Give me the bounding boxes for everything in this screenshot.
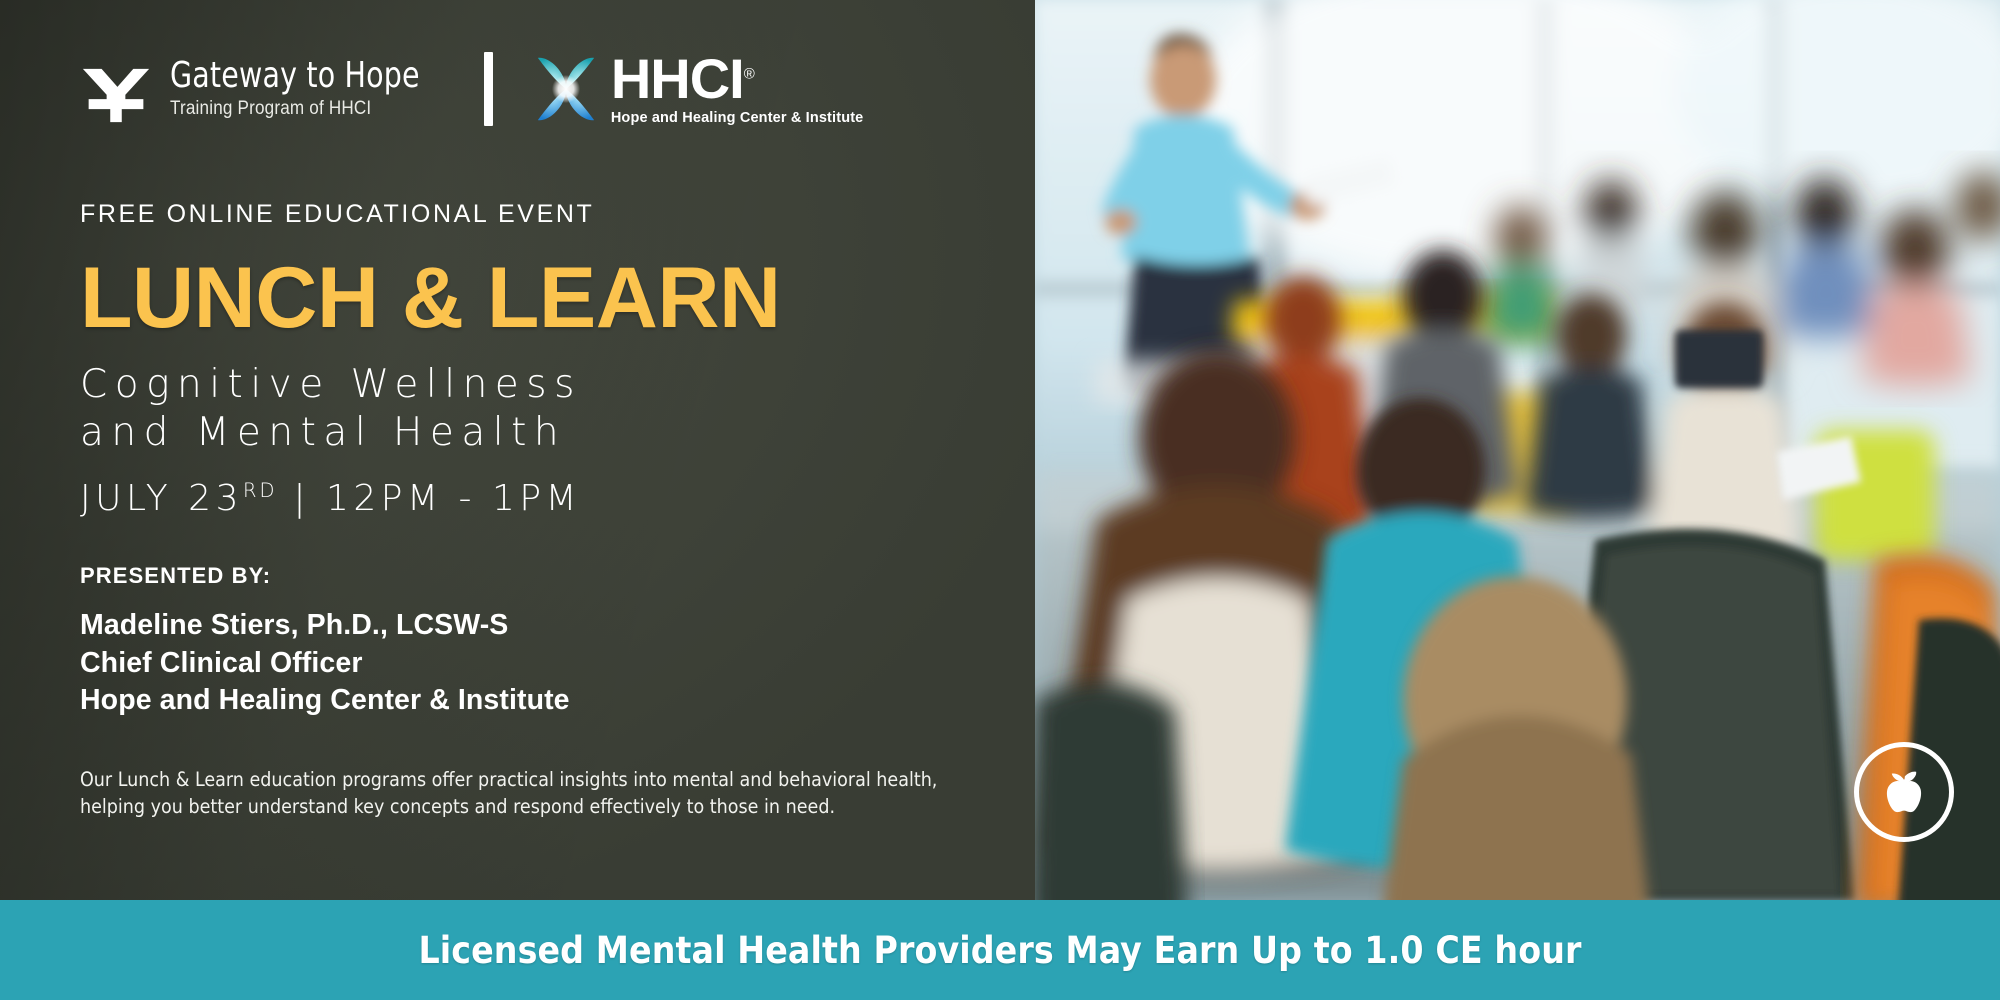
gateway-subtitle: Training Program of HHCI	[170, 98, 425, 121]
presented-by-label: PRESENTED BY:	[80, 563, 980, 589]
logo-divider	[484, 52, 493, 126]
event-kicker: FREE ONLINE EDUCATIONAL EVENT	[80, 200, 980, 229]
event-details: FREE ONLINE EDUCATIONAL EVENT LUNCH & LE…	[80, 200, 980, 820]
event-date-ordinal: RD	[243, 479, 277, 502]
event-subhead-line1: Cognitive Wellness	[80, 361, 980, 409]
hhci-title-text: HHCI	[611, 47, 744, 110]
hhci-subtitle: Hope and Healing Center & Institute	[611, 110, 864, 126]
event-time-range: | 12PM - 1PM	[277, 478, 581, 519]
event-headline: LUNCH & LEARN	[80, 253, 980, 343]
hhci-logo-block: HHCI® Hope and Healing Center & Institut…	[529, 52, 864, 126]
event-date-main: JULY 23	[80, 478, 243, 519]
event-subhead: Cognitive Wellness and Mental Health	[80, 361, 980, 456]
event-description: Our Lunch & Learn education programs off…	[80, 767, 940, 821]
gateway-text-block: Gateway to Hope Training Program of HHCI	[170, 58, 454, 121]
event-subhead-line2: and Mental Health	[80, 409, 980, 457]
ce-credit-text: Licensed Mental Health Providers May Ear…	[418, 929, 1581, 972]
presenter-role: Chief Clinical Officer	[80, 645, 980, 682]
presenter-organization: Hope and Healing Center & Institute	[80, 682, 980, 719]
apple-in-circle-icon	[1854, 742, 1954, 842]
event-poster: Gateway to Hope Training Program of HHCI	[0, 0, 2000, 1000]
logo-row: Gateway to Hope Training Program of HHCI	[80, 52, 863, 126]
ce-credit-banner: Licensed Mental Health Providers May Ear…	[0, 900, 2000, 1000]
presenter-name: Madeline Stiers, Ph.D., LCSW-S	[80, 607, 980, 644]
gateway-x-mark-icon	[80, 53, 152, 125]
presenter-block: Madeline Stiers, Ph.D., LCSW-S Chief Cli…	[80, 607, 980, 718]
gateway-title: Gateway to Hope	[170, 58, 420, 95]
hhci-title: HHCI®	[611, 52, 864, 105]
hhci-butterfly-icon	[529, 52, 603, 126]
classroom-photo	[1035, 0, 2000, 900]
event-datetime: JULY 23RD | 12PM - 1PM	[80, 478, 980, 519]
hhci-text-block: HHCI® Hope and Healing Center & Institut…	[611, 52, 864, 126]
hhci-trademark: ®	[744, 65, 754, 82]
